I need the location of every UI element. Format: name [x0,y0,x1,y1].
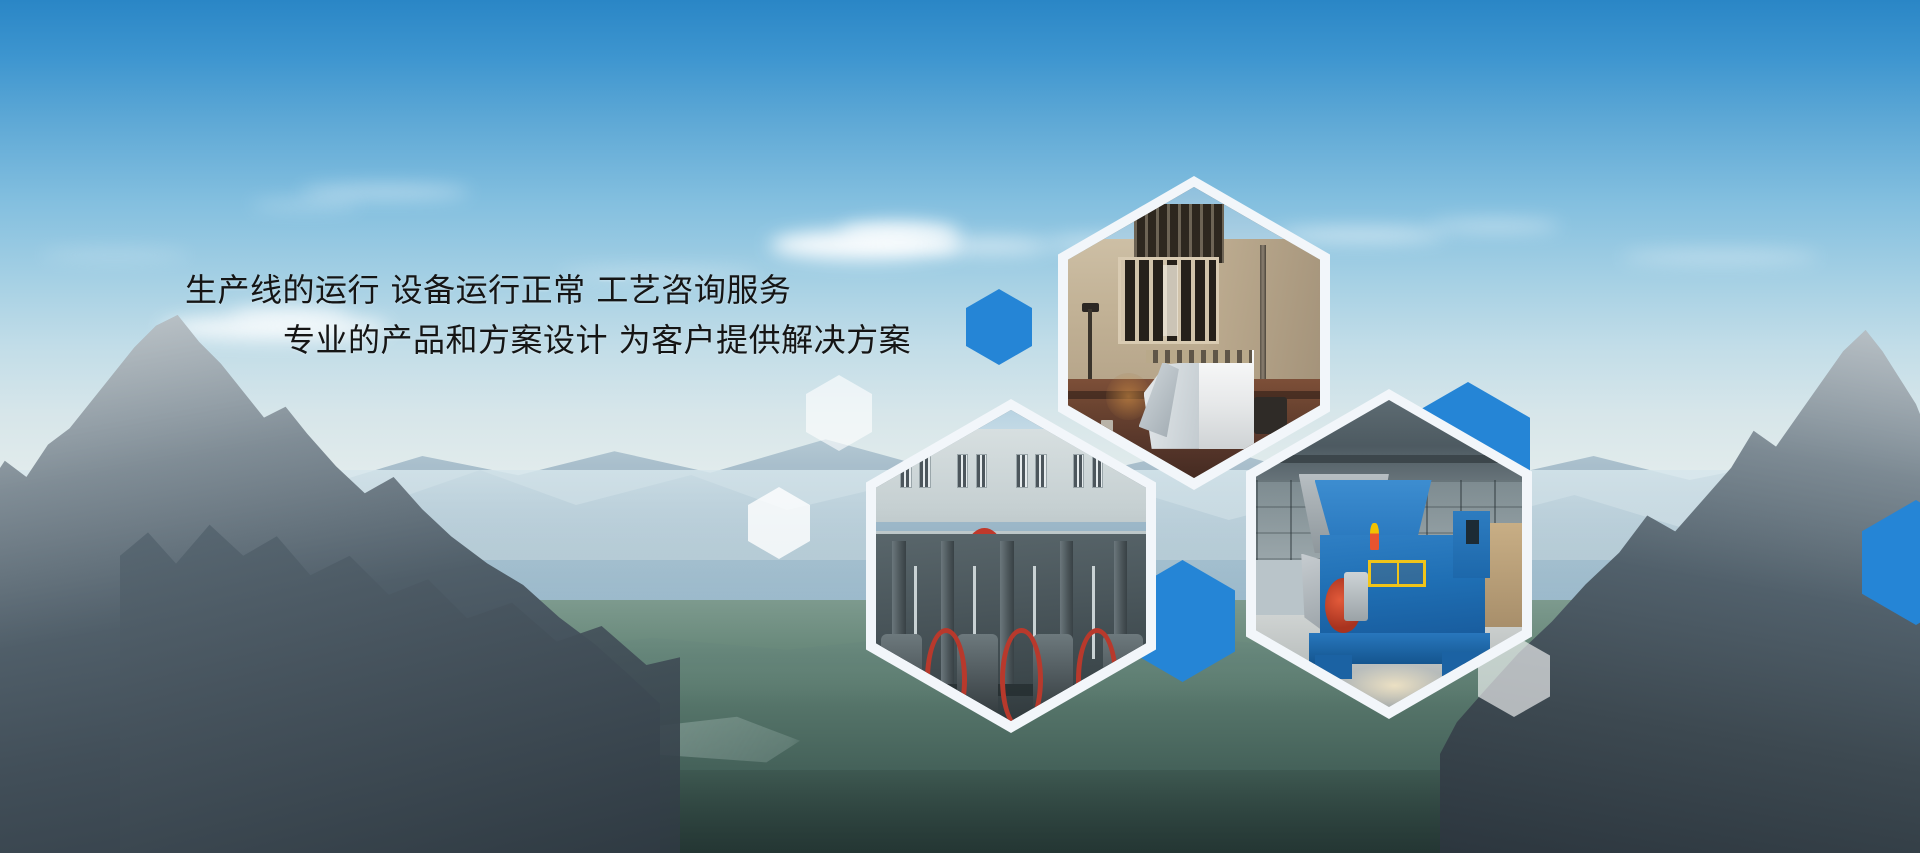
hero-banner: 生产线的运行 设备运行正常 工艺咨询服务 专业的产品和方案设计 为客户提供解决方… [0,0,1920,853]
cloud-icon [1430,220,1560,232]
cloud-icon [1620,250,1820,264]
headline-block: 生产线的运行 设备运行正常 工艺咨询服务 专业的产品和方案设计 为客户提供解决方… [185,266,1005,365]
cloud-icon [300,185,470,199]
cloud-icon [250,200,360,210]
cloud-icon [40,250,190,260]
headline-line-1: 生产线的运行 设备运行正常 工艺咨询服务 [185,266,1005,316]
headline-line-2: 专业的产品和方案设计 为客户提供解决方案 [185,316,1005,366]
cloud-icon [930,238,1050,254]
